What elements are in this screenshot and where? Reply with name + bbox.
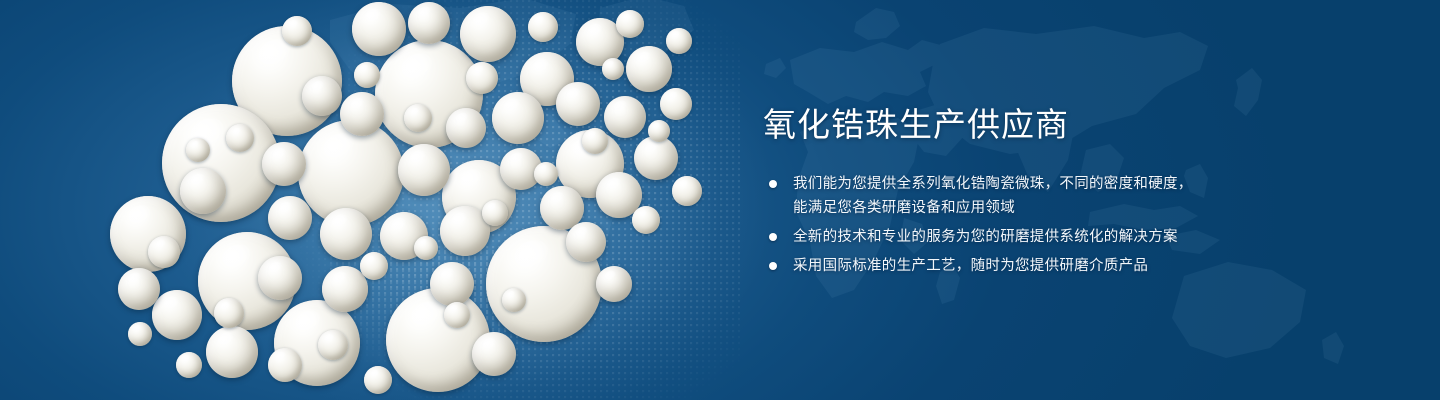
bullet-dot-icon bbox=[769, 180, 777, 188]
bead bbox=[482, 200, 508, 226]
bead bbox=[582, 128, 608, 154]
bead bbox=[268, 348, 302, 382]
bead bbox=[502, 288, 526, 312]
bead bbox=[258, 256, 302, 300]
bead bbox=[340, 92, 384, 136]
bead bbox=[226, 124, 254, 152]
bead bbox=[180, 168, 226, 214]
bead bbox=[466, 62, 498, 94]
bead bbox=[602, 58, 624, 80]
banner-text-block: 氧化锆珠生产供应商 我们能为您提供全系列氧化锆陶瓷微珠，不同的密度和硬度， 能满… bbox=[763, 108, 1383, 278]
bead bbox=[566, 222, 606, 262]
bead bbox=[262, 142, 306, 186]
hero-banner: 氧化锆珠生产供应商 我们能为您提供全系列氧化锆陶瓷微珠，不同的密度和硬度， 能满… bbox=[0, 0, 1440, 400]
bead bbox=[386, 288, 490, 392]
bead bbox=[660, 88, 692, 120]
bead bbox=[302, 76, 342, 116]
bead bbox=[318, 330, 348, 360]
bead bbox=[282, 16, 312, 46]
page-title: 氧化锆珠生产供应商 bbox=[763, 108, 1383, 141]
bullet-line-1: 全新的技术和专业的服务为您的研磨提供系统化的解决方案 bbox=[793, 229, 1178, 245]
bead bbox=[472, 332, 516, 376]
bullet-line-2: 能满足您各类研磨设备和应用领域 bbox=[793, 196, 1383, 220]
list-item: 我们能为您提供全系列氧化锆陶瓷微珠，不同的密度和硬度， 能满足您各类研磨设备和应… bbox=[763, 172, 1383, 220]
bead bbox=[128, 322, 152, 346]
bead bbox=[398, 144, 450, 196]
bead bbox=[446, 108, 486, 148]
bead bbox=[672, 176, 702, 206]
bead bbox=[648, 120, 670, 142]
bead bbox=[214, 298, 244, 328]
bead bbox=[360, 252, 388, 280]
bead bbox=[666, 28, 692, 54]
bead bbox=[414, 236, 438, 260]
bead bbox=[152, 290, 202, 340]
bead bbox=[148, 236, 180, 268]
bullet-dot-icon bbox=[769, 233, 777, 241]
bullet-line-1: 采用国际标准的生产工艺，随时为您提供研磨介质产品 bbox=[793, 258, 1148, 274]
list-item: 全新的技术和专业的服务为您的研磨提供系统化的解决方案 bbox=[763, 225, 1383, 249]
bead bbox=[320, 208, 372, 260]
bead bbox=[352, 2, 406, 56]
bead bbox=[354, 62, 380, 88]
bead bbox=[186, 138, 210, 162]
bead bbox=[634, 136, 678, 180]
list-item: 采用国际标准的生产工艺，随时为您提供研磨介质产品 bbox=[763, 254, 1383, 278]
bullet-line-1: 我们能为您提供全系列氧化锆陶瓷微珠，不同的密度和硬度， bbox=[793, 176, 1193, 192]
bead bbox=[604, 96, 646, 138]
bead bbox=[404, 104, 432, 132]
feature-bullet-list: 我们能为您提供全系列氧化锆陶瓷微珠，不同的密度和硬度， 能满足您各类研磨设备和应… bbox=[763, 172, 1383, 278]
bead bbox=[528, 12, 558, 42]
bead bbox=[460, 6, 516, 62]
bead bbox=[430, 262, 474, 306]
bead bbox=[632, 206, 660, 234]
bead bbox=[176, 352, 202, 378]
zirconia-bead-cluster-image bbox=[0, 0, 760, 400]
bead bbox=[364, 366, 392, 394]
bead bbox=[626, 46, 672, 92]
bead bbox=[556, 82, 600, 126]
bead bbox=[268, 196, 312, 240]
bead bbox=[616, 10, 644, 38]
bead bbox=[118, 268, 160, 310]
bead bbox=[408, 2, 450, 44]
bead bbox=[596, 266, 632, 302]
bullet-dot-icon bbox=[769, 262, 777, 270]
bead bbox=[534, 162, 558, 186]
bead bbox=[444, 302, 470, 328]
bead bbox=[492, 92, 544, 144]
bead bbox=[206, 326, 258, 378]
